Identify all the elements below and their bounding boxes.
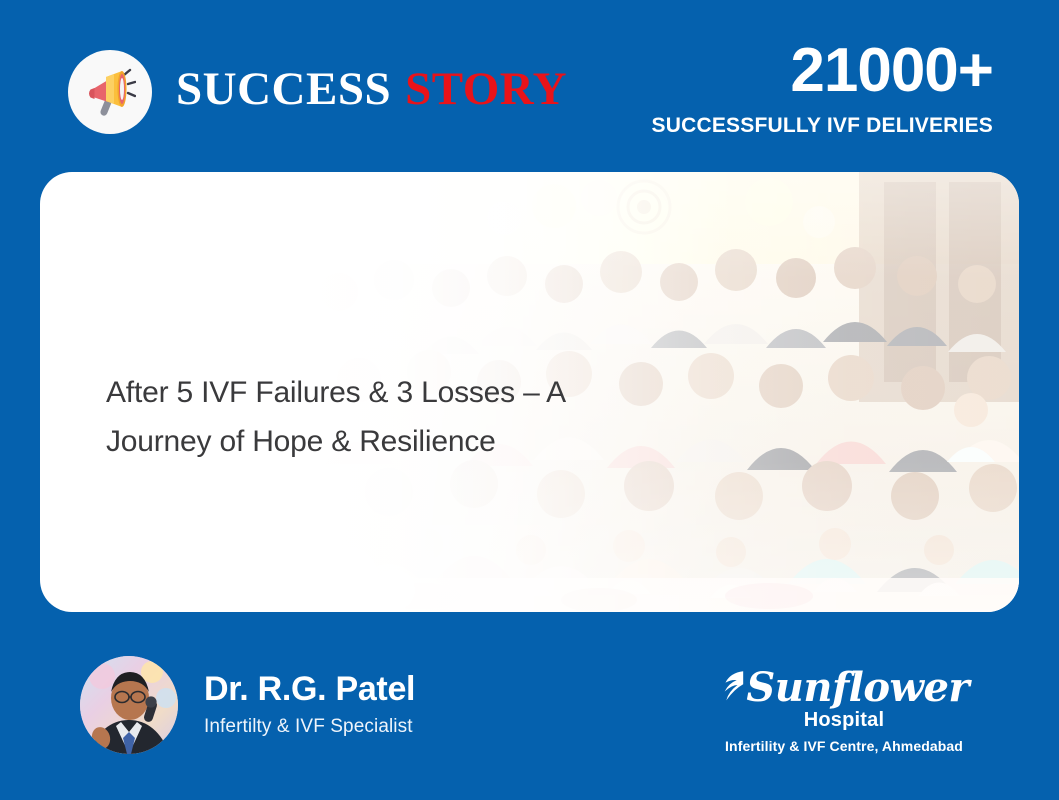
poster-footer: Dr. R.G. Patel Infertilty & IVF Speciali… [0,612,1059,800]
stats-count: 21000+ [652,40,993,102]
sunflower-leaf-icon [719,662,746,708]
logo-hospital-word: Hospital [719,709,969,732]
brand-lockup: SUCCESSSTORY [68,50,567,134]
doctor-role: Infertilty & IVF Specialist [204,716,415,738]
stats-block: 21000+ SUCCESSFULLY IVF DELIVERIES [652,40,993,138]
hospital-logo: Sunflower Hospital Infertility & IVF Cen… [719,658,969,754]
logo-wordmark: Sunflower [719,658,969,708]
success-story-poster: SUCCESSSTORY 21000+ SUCCESSFULLY IVF DEL… [0,0,1059,800]
doctor-text: Dr. R.G. Patel Infertilty & IVF Speciali… [204,672,415,738]
page-title: SUCCESSSTORY [176,66,567,119]
poster-header: SUCCESSSTORY 21000+ SUCCESSFULLY IVF DEL… [0,0,1059,172]
megaphone-icon [68,50,152,134]
doctor-name: Dr. R.G. Patel [204,672,415,708]
doctor-credit: Dr. R.G. Patel Infertilty & IVF Speciali… [80,656,415,754]
title-word-story: STORY [405,63,567,115]
logo-tagline: Infertility & IVF Centre, Ahmedabad [719,738,969,754]
logo-script-name: Sunflower [746,668,969,708]
headline-line-1: After 5 IVF Failures & 3 Losses – A [106,368,666,417]
avatar [80,656,178,754]
title-word-success: SUCCESS [176,63,391,115]
story-headline: After 5 IVF Failures & 3 Losses – A Jour… [106,368,666,466]
stats-caption: SUCCESSFULLY IVF DELIVERIES [652,114,993,138]
story-card: After 5 IVF Failures & 3 Losses – A Jour… [40,172,1019,612]
headline-line-2: Journey of Hope & Resilience [106,417,666,466]
